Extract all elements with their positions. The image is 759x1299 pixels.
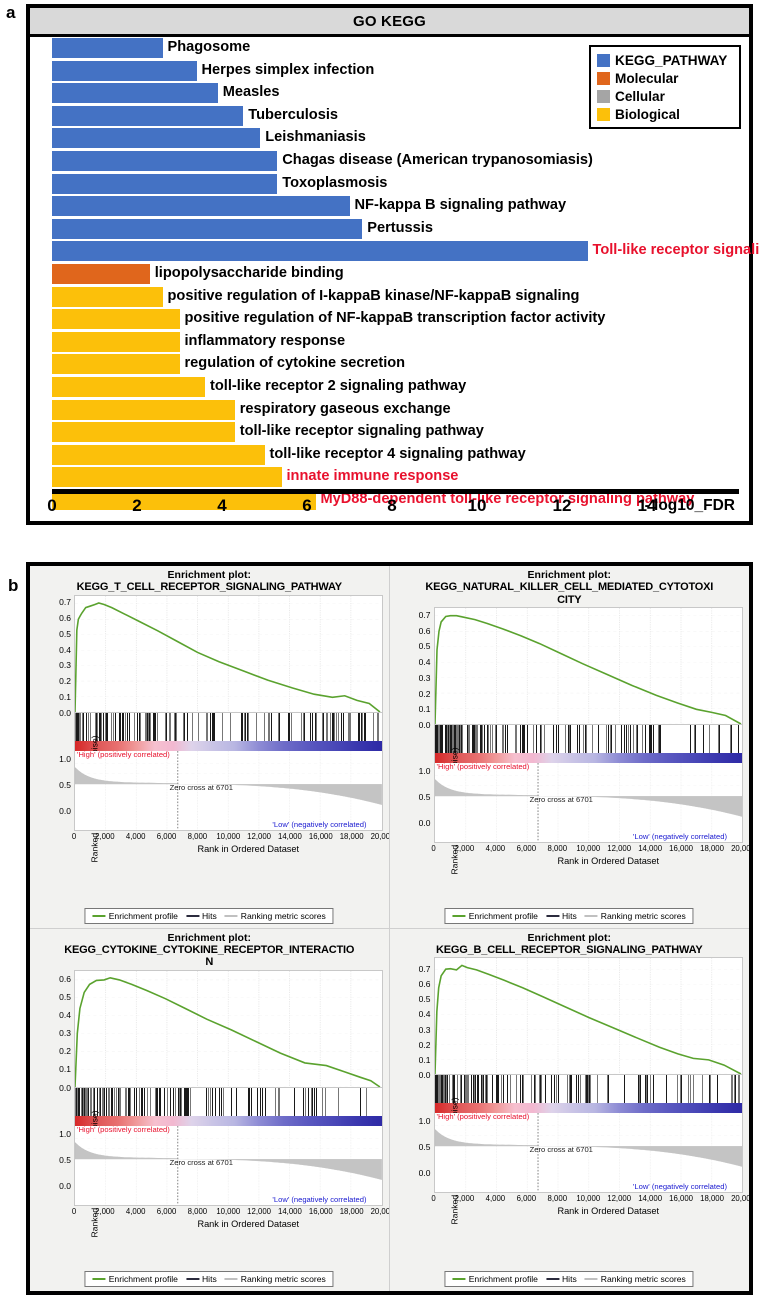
hit-tick (104, 1088, 105, 1116)
hit-tick (577, 725, 578, 753)
rank-x-tick-label: 8,000 (548, 844, 568, 853)
hit-tick (738, 1075, 739, 1103)
hit-tick (482, 725, 483, 753)
bar-label: toll-like receptor 2 signaling pathway (210, 376, 466, 397)
hit-tick (192, 713, 193, 741)
x-tick-label: 10 (468, 496, 487, 516)
hit-tick (115, 713, 116, 741)
rank-y-tick-label: 0.0 (59, 806, 71, 816)
hit-tick (677, 1075, 678, 1103)
hit-tick (249, 1088, 250, 1116)
gsea-legend-label: Ranking metric scores (241, 911, 326, 921)
rank-x-tick-label: 10,000 (576, 844, 600, 853)
hit-tick (262, 1088, 263, 1116)
bar-label: Toll-like receptor signaling pathway (593, 240, 759, 261)
hit-tick (467, 1075, 468, 1103)
hit-tick (336, 713, 337, 741)
panel-label-a: a (6, 3, 15, 23)
hit-tick (533, 725, 534, 753)
hit-tick (608, 1075, 609, 1103)
hit-tick (257, 1088, 258, 1116)
hit-tick (118, 1088, 119, 1116)
gsea-legend-label: Hits (562, 911, 577, 921)
rank-x-tick-label: 0 (72, 1207, 76, 1216)
hit-tick (184, 1088, 185, 1116)
hit-tick (558, 725, 559, 753)
rank-y-tick-label: 0.5 (59, 1155, 71, 1165)
hit-tick (567, 1075, 568, 1103)
hit-tick (207, 713, 208, 741)
bar-label: respiratory gaseous exchange (240, 399, 451, 420)
hit-tick (260, 1088, 261, 1116)
hit-tick (301, 713, 302, 741)
hit-tick (327, 713, 328, 741)
bar-label: toll-like receptor signaling pathway (240, 421, 484, 442)
hit-tick (77, 1088, 78, 1116)
hit-tick (164, 1088, 165, 1116)
hit-tick (477, 1075, 478, 1103)
bar (52, 106, 243, 126)
hit-tick (626, 725, 627, 753)
gsea-plot: Enrichment plot:KEGG_T_CELL_RECEPTOR_SIG… (30, 566, 390, 929)
bar-row: Leishmaniasis (30, 127, 749, 150)
hit-tick (474, 725, 475, 753)
bar-label: Tuberculosis (248, 105, 338, 126)
rank-x-tick-label: 4,000 (486, 1194, 506, 1203)
hit-tick (157, 1088, 158, 1116)
hit-tick (265, 1088, 266, 1116)
hit-tick (545, 1075, 546, 1103)
hit-tick (86, 713, 87, 741)
bar-row: toll-like receptor 2 signaling pathway (30, 376, 749, 399)
hit-tick (120, 713, 121, 741)
bar-label: Toxoplasmosis (282, 173, 387, 194)
hit-tick (364, 713, 365, 741)
gsea-legend-label: Enrichment profile (109, 1274, 178, 1284)
hit-tick (592, 725, 593, 753)
bar (52, 287, 163, 307)
gsea-title-name-cont: CITY (390, 594, 750, 607)
hit-tick (236, 1088, 237, 1116)
es-y-tick-label: 0.0 (59, 1083, 71, 1093)
hit-tick (666, 1075, 667, 1103)
bar-label: inflammatory response (185, 331, 346, 352)
hit-tick (558, 1075, 559, 1103)
hit-tick (206, 1088, 207, 1116)
hit-tick (145, 713, 146, 741)
rank-y-tick-label: 0.0 (419, 818, 431, 828)
enrichment-score-subplot: Enrichment score (ES)0.00.10.20.30.40.50… (394, 607, 744, 725)
hit-tick (498, 1075, 499, 1103)
hit-tick (483, 1075, 484, 1103)
hit-tick (637, 725, 638, 753)
rank-x-tick-label: 6,000 (517, 1194, 537, 1203)
hit-tick (308, 1088, 309, 1116)
hit-tick (681, 1075, 682, 1103)
rank-x-tick-label: 14,000 (638, 844, 662, 853)
rank-x-tick-label: 16,000 (669, 1194, 693, 1203)
gsea-title-name: KEGG_T_CELL_RECEPTOR_SIGNALING_PATHWAY (30, 581, 389, 594)
hit-tick (365, 713, 366, 741)
hit-tick (150, 1088, 151, 1116)
hit-tick (435, 725, 436, 753)
hit-tick (312, 713, 313, 741)
hit-tick (642, 725, 643, 753)
hit-tick (108, 1088, 109, 1116)
hit-tick (719, 725, 720, 753)
hit-tick (175, 1088, 176, 1116)
hit-tick (539, 1075, 540, 1103)
zero-cross-label: Zero cross at 6701 (530, 1145, 593, 1154)
hit-tick (264, 713, 265, 741)
hit-tick (541, 1075, 542, 1103)
bar (52, 151, 277, 171)
bar-row: toll-like receptor signaling pathway (30, 421, 749, 444)
hit-tick (553, 725, 554, 753)
es-y-tick-label: 0.0 (419, 720, 431, 730)
low-correlation-label: 'Low' (negatively correlated) (272, 820, 366, 829)
rank-x-tick-label: 20,000 (731, 1194, 749, 1203)
bar (52, 61, 197, 81)
panel-a-go-kegg-barchart: GO KEGG KEGG_PATHWAYMolecularCellularBio… (26, 4, 753, 525)
hit-tick (288, 713, 289, 741)
hit-tick (645, 725, 646, 753)
rank-x-axis: 02,0004,0006,0008,00010,00012,00014,0001… (434, 1193, 744, 1215)
hit-tick (359, 713, 360, 741)
rank-x-tick-label: 10,000 (216, 832, 240, 841)
hit-tick (577, 725, 578, 753)
es-y-tick-label: 0.5 (419, 994, 431, 1004)
hits-band (434, 1075, 744, 1113)
es-y-tick-label: 0.2 (419, 1040, 431, 1050)
hit-tick (187, 713, 188, 741)
rank-y-tick-label: 0.0 (59, 1181, 71, 1191)
x-axis-title: - log10_FDR (645, 497, 735, 515)
es-y-tick-label: 0.6 (59, 974, 71, 984)
rank-y-ticks: 1.00.50.0 (48, 751, 72, 823)
hit-tick (520, 725, 521, 753)
hit-tick (485, 1075, 486, 1103)
hit-tick (291, 713, 292, 741)
bar-row: respiratory gaseous exchange (30, 399, 749, 422)
gsea-legend-item: Enrichment profile (453, 1274, 538, 1284)
es-y-tick-label: 0.6 (419, 979, 431, 989)
hit-tick (330, 713, 331, 741)
hit-tick (507, 1075, 508, 1103)
hit-tick (588, 1075, 589, 1103)
gsea-title: Enrichment plot:KEGG_T_CELL_RECEPTOR_SIG… (30, 566, 389, 594)
hit-tick (377, 713, 378, 741)
rank-x-tick-label: 2,000 (455, 1194, 475, 1203)
bar (52, 264, 150, 284)
hit-tick (210, 713, 211, 741)
hit-tick (730, 725, 731, 753)
hit-tick (160, 1088, 161, 1116)
rank-x-tick-label: 2,000 (95, 832, 115, 841)
hit-tick (137, 713, 138, 741)
gsea-legend-swatch-icon (546, 1278, 559, 1280)
low-correlation-label: 'Low' (negatively correlated) (633, 832, 727, 841)
hit-tick (437, 1075, 438, 1103)
hit-tick (653, 1075, 654, 1103)
zero-cross-label: Zero cross at 6701 (530, 795, 593, 804)
enrichment-score-subplot: Enrichment score (ES)0.00.10.20.30.40.50… (34, 595, 383, 713)
hit-tick (523, 1075, 524, 1103)
rank-x-tick-label: 20,000 (371, 1207, 390, 1216)
rank-x-tick-label: 4,000 (486, 844, 506, 853)
rank-x-tick-label: 16,000 (309, 832, 333, 841)
rank-y-tick-label: 1.0 (59, 754, 71, 764)
high-correlation-label: 'High' (positively correlated) (77, 750, 170, 759)
hit-tick (544, 725, 545, 753)
x-tick-label: 8 (387, 496, 396, 516)
hit-tick (571, 1075, 572, 1103)
rank-x-tick-label: 20,000 (731, 844, 749, 853)
gsea-legend-item: Hits (186, 1274, 217, 1284)
rank-y-tick-label: 1.0 (59, 1129, 71, 1139)
gsea-legend-swatch-icon (225, 1278, 238, 1280)
hit-tick (527, 725, 528, 753)
hit-tick (350, 713, 351, 741)
hit-tick (487, 725, 488, 753)
hit-tick (334, 713, 335, 741)
high-correlation-label: 'High' (positively correlated) (77, 1125, 170, 1134)
bar-row: Herpes simplex infection (30, 60, 749, 83)
hit-tick (147, 1088, 148, 1116)
es-y-tick-label: 0.7 (419, 610, 431, 620)
gsea-title-name-cont: N (30, 956, 389, 969)
gsea-plot-body: Enrichment score (ES)0.00.10.20.30.40.50… (34, 970, 383, 1222)
gsea-legend-item: Enrichment profile (93, 911, 178, 921)
low-correlation-label: 'Low' (negatively correlated) (272, 1195, 366, 1204)
bar (52, 354, 180, 374)
high-correlation-label: 'High' (positively correlated) (437, 1112, 530, 1121)
bar (52, 241, 588, 261)
hit-tick (316, 713, 317, 741)
x-tick-label: 12 (553, 496, 572, 516)
rank-x-tick-label: 12,000 (607, 844, 631, 853)
bar (52, 219, 362, 239)
gsea-legend-swatch-icon (93, 915, 106, 917)
hits-band (74, 1088, 383, 1126)
hit-tick (503, 1075, 504, 1103)
hit-tick (242, 713, 243, 741)
gsea-legend-swatch-icon (453, 1278, 466, 1280)
x-tick-label: 4 (217, 496, 226, 516)
hit-tick (278, 1088, 279, 1116)
hit-tick (473, 725, 474, 753)
hit-tick (341, 713, 342, 741)
rank-x-tick-label: 16,000 (309, 1207, 333, 1216)
hit-tick (80, 713, 81, 741)
hit-tick (645, 1075, 646, 1103)
hit-tick (271, 713, 272, 741)
hit-tick (183, 713, 184, 741)
hit-tick (710, 1075, 711, 1103)
hit-tick (586, 725, 587, 753)
hit-tick (127, 713, 128, 741)
hit-tick (366, 1088, 367, 1116)
bar-row: Tuberculosis (30, 105, 749, 128)
enrichment-score-subplot: Enrichment score (ES)0.00.10.20.30.40.50… (394, 957, 744, 1075)
gsea-title-name: KEGG_NATURAL_KILLER_CELL_MEDIATED_CYTOTO… (390, 581, 750, 594)
hit-ticks (75, 713, 382, 741)
hit-tick (535, 1075, 536, 1103)
bar (52, 38, 163, 58)
hit-tick (516, 1075, 517, 1103)
es-y-tick-label: 0.1 (419, 1055, 431, 1065)
gsea-title-prefix: Enrichment plot: (30, 932, 389, 944)
bar-row: Pertussis (30, 218, 749, 241)
hit-tick (445, 725, 446, 753)
hit-tick (241, 713, 242, 741)
hit-tick (120, 1088, 121, 1116)
gsea-plot: Enrichment plot:KEGG_B_CELL_RECEPTOR_SIG… (390, 929, 750, 1292)
go-kegg-title: GO KEGG (353, 13, 426, 30)
gsea-title-prefix: Enrichment plot: (390, 569, 750, 581)
hit-tick (103, 713, 104, 741)
es-y-tick-label: 0.1 (59, 1064, 71, 1074)
rank-x-tick-label: 18,000 (700, 1194, 724, 1203)
gsea-legend-swatch-icon (186, 1278, 199, 1280)
bar-label: lipopolysaccharide binding (155, 263, 344, 284)
bar (52, 467, 282, 487)
hit-tick (448, 725, 449, 753)
gsea-legend-item: Ranking metric scores (225, 911, 326, 921)
x-axis: - log10_FDR 02468101214 (52, 489, 739, 531)
hit-tick (738, 725, 739, 753)
gsea-legend-swatch-icon (93, 1278, 106, 1280)
hit-tick (628, 725, 629, 753)
hit-tick (77, 713, 78, 741)
es-y-tick-label: 0.4 (419, 1009, 431, 1019)
hits-band (74, 713, 383, 751)
hit-tick (222, 713, 223, 741)
rank-x-tick-label: 4,000 (126, 1207, 146, 1216)
hit-tick (322, 1088, 323, 1116)
gsea-legend-swatch-icon (186, 915, 199, 917)
hit-tick (343, 713, 344, 741)
es-curve-area (74, 970, 383, 1088)
hit-tick (702, 1075, 703, 1103)
hit-tick (112, 1088, 113, 1116)
hit-tick (732, 1075, 733, 1103)
hit-tick (170, 713, 171, 741)
es-y-ticks: 0.00.10.20.30.40.50.60.7 (408, 957, 432, 1075)
rank-y-ticks: 1.00.50.0 (48, 1126, 72, 1198)
hit-tick (190, 1088, 191, 1116)
hit-tick (731, 725, 732, 753)
gsea-legend-label: Hits (202, 911, 217, 921)
es-y-tick-label: 0.1 (59, 692, 71, 702)
hit-tick (294, 1088, 295, 1116)
hit-tick (214, 713, 215, 741)
bar-row: Chagas disease (American trypanosomiasis… (30, 150, 749, 173)
hit-tick (615, 725, 616, 753)
rank-y-tick-label: 0.5 (419, 792, 431, 802)
bar-row: innate immune response (30, 466, 749, 489)
hit-tick (650, 725, 651, 753)
hit-tick (167, 1088, 168, 1116)
es-y-tick-label: 0.2 (59, 676, 71, 686)
rank-x-axis-title: Rank in Ordered Dataset (474, 1206, 744, 1216)
hit-tick (304, 713, 305, 741)
hit-tick (210, 1088, 211, 1116)
rank-x-tick-label: 20,000 (371, 832, 390, 841)
bar (52, 377, 205, 397)
hit-tick (440, 1075, 441, 1103)
hit-tick (488, 725, 489, 753)
panel-label-b: b (8, 576, 18, 596)
rank-x-tick-label: 12,000 (247, 832, 271, 841)
rank-x-tick-label: 0 (431, 844, 435, 853)
gsea-legend-label: Enrichment profile (469, 911, 538, 921)
bar-label: Phagosome (168, 37, 251, 58)
es-y-tick-label: 0.4 (59, 1010, 71, 1020)
gsea-legend-item: Enrichment profile (453, 911, 538, 921)
bar-label: positive regulation of I-kappaB kinase/N… (168, 286, 580, 307)
hit-tick (100, 1088, 101, 1116)
bar-row: lipopolysaccharide binding (30, 263, 749, 286)
bar-row: Measles (30, 82, 749, 105)
hit-ticks (75, 1088, 382, 1116)
gsea-legend-label: Ranking metric scores (601, 911, 686, 921)
gsea-legend-item: Ranking metric scores (585, 911, 686, 921)
go-kegg-title-bar: GO KEGG (30, 8, 749, 37)
hit-tick (440, 725, 441, 753)
hit-tick (505, 725, 506, 753)
rank-x-tick-label: 0 (72, 832, 76, 841)
rank-y-tick-label: 1.0 (419, 1116, 431, 1126)
es-y-tick-label: 0.3 (59, 1028, 71, 1038)
es-y-tick-label: 0.7 (419, 964, 431, 974)
hit-tick (496, 1075, 497, 1103)
bar-row: Toxoplasmosis (30, 173, 749, 196)
gsea-legend-swatch-icon (453, 915, 466, 917)
es-y-tick-label: 0.5 (59, 629, 71, 639)
hit-tick (213, 713, 214, 741)
rank-x-axis-title: Rank in Ordered Dataset (114, 1219, 383, 1229)
bar (52, 400, 235, 420)
bar (52, 196, 350, 216)
hit-tick (695, 725, 696, 753)
hit-tick (326, 713, 327, 741)
hit-tick (187, 1088, 188, 1116)
bar-row: Toll-like receptor signaling pathway (30, 240, 749, 263)
rank-x-tick-label: 0 (431, 1194, 435, 1203)
gsea-legend-swatch-icon (585, 915, 598, 917)
x-axis-line (52, 489, 739, 494)
gsea-plot: Enrichment plot:KEGG_CYTOKINE_CYTOKINE_R… (30, 929, 390, 1292)
gsea-title-name: KEGG_B_CELL_RECEPTOR_SIGNALING_PATHWAY (390, 944, 750, 957)
hit-tick (516, 725, 517, 753)
x-tick-label: 2 (132, 496, 141, 516)
hit-tick (468, 1075, 469, 1103)
hit-tick (621, 725, 622, 753)
rank-x-axis-title: Rank in Ordered Dataset (474, 856, 744, 866)
hit-tick (107, 713, 108, 741)
bar (52, 332, 180, 352)
hit-tick (576, 1075, 577, 1103)
es-y-tick-label: 0.3 (59, 660, 71, 670)
hit-tick (608, 725, 609, 753)
hit-tick (444, 1075, 445, 1103)
hit-tick (75, 713, 76, 741)
hit-tick (739, 1075, 740, 1103)
hit-tick (611, 725, 612, 753)
zero-cross-label: Zero cross at 6701 (170, 1158, 233, 1167)
hit-tick (360, 1088, 361, 1116)
